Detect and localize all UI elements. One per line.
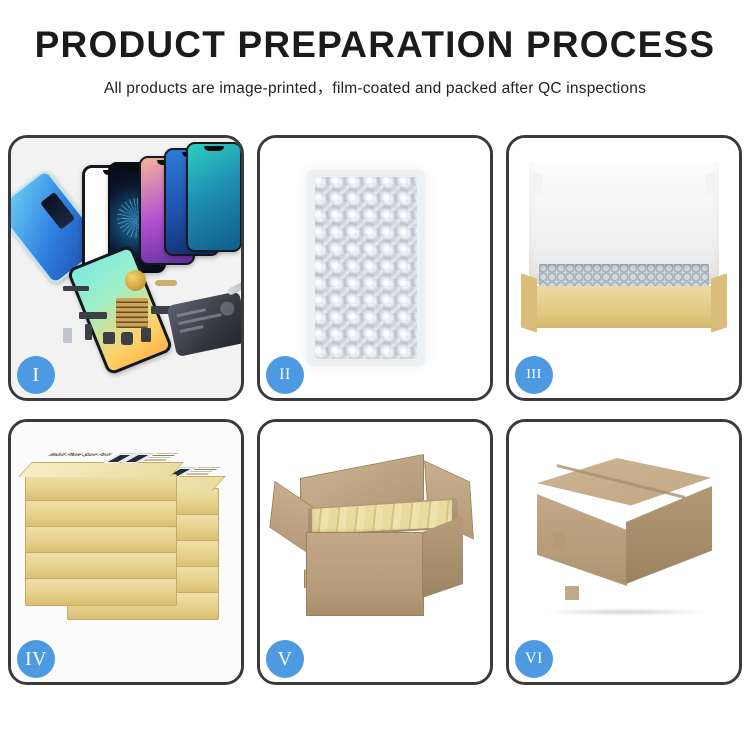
part-sim-tray-icon [141,328,151,342]
part-bracket-icon [85,324,92,340]
carton-tape-mark [553,532,565,548]
retail-box-label: Mobile Phone Spare Parts [46,452,116,457]
spare-parts-group [63,276,233,354]
tool-tweezers-icon [227,271,241,296]
retail-box-stack-icon: Mobile Phone Spare Parts Mobile Phone Sp… [15,444,241,636]
page-title: PRODUCT PREPARATION PROCESS [0,26,750,65]
page-header: PRODUCT PREPARATION PROCESS All products… [0,0,750,98]
retail-box [25,526,177,554]
sealed-carton-icon [531,458,717,616]
step-4-image: Mobile Phone Spare Parts Mobile Phone Sp… [11,422,241,682]
step-panel-6: VI [506,419,742,685]
retail-box [25,552,177,580]
phone-back-housing-icon [166,291,241,357]
inner-box-open-icon [521,162,727,364]
step-1-image: I [11,138,241,398]
part-button-icon [121,332,133,345]
step-6-image: VI [509,422,739,682]
part-screw-driver-tip-icon [63,328,72,343]
step-panel-5: V [257,419,493,685]
retail-box [25,578,177,606]
carton-left-face [537,494,627,586]
part-gold-connector-icon [155,280,177,286]
step-badge-1: I [17,356,55,394]
process-steps-grid: I II III [8,135,742,685]
product-preparation-page: PRODUCT PREPARATION PROCESS All products… [0,0,750,750]
carton-shadow [541,608,709,616]
part-camera-module-icon [103,332,115,344]
box-base [525,286,723,328]
bubble-wrap-sheet-icon [307,170,425,366]
step-badge-2: II [266,356,304,394]
phone-teal-icon [186,142,241,252]
step-badge-4: IV [17,640,55,678]
step-3-image: III [509,138,739,398]
step-panel-2: II [257,135,493,401]
part-flex-strip-icon [63,286,89,291]
carton-tape-mark [565,586,579,600]
part-speaker-mesh-icon [116,298,148,328]
retail-box [25,500,177,528]
part-cable-icon [79,312,107,319]
step-panel-4: Mobile Phone Spare Parts Mobile Phone Sp… [8,419,244,685]
step-panel-3: III [506,135,742,401]
carton-front-face [306,532,424,616]
step-badge-3: III [515,356,553,394]
step-2-image: II [260,138,490,398]
step-panel-1: I [8,135,244,401]
retail-box: Mobile Phone Spare Parts [25,474,177,502]
open-carton-icon [278,460,466,620]
step-badge-5: V [266,640,304,678]
page-subtitle: All products are image-printed，film-coat… [0,76,750,98]
step-badge-6: VI [515,640,553,678]
step-5-image: V [260,422,490,682]
bubble-texture [315,177,417,359]
part-vibration-motor-icon [125,270,146,291]
